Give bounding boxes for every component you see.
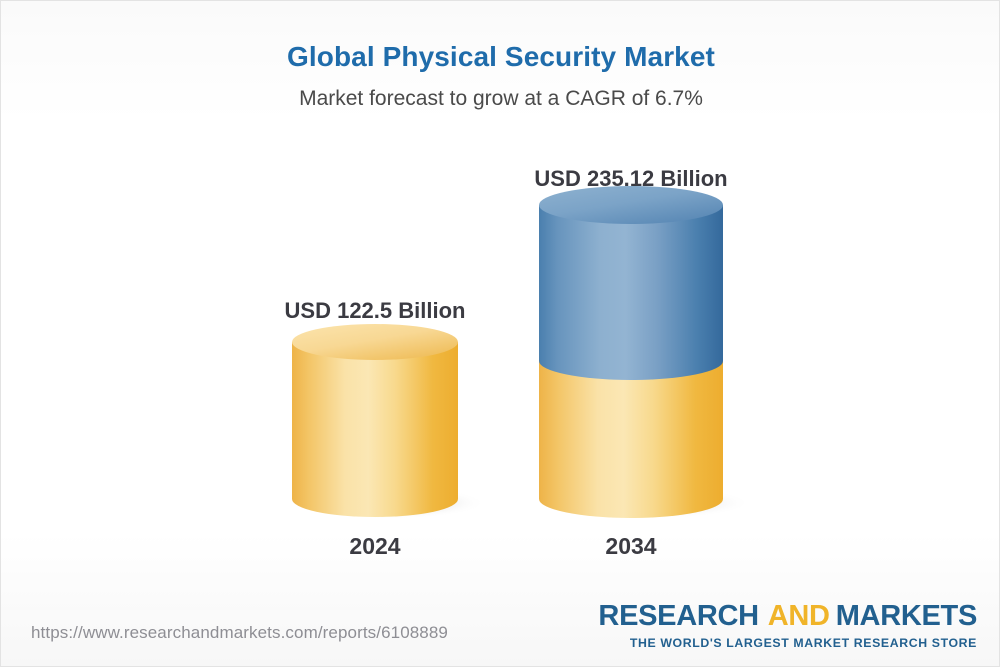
logo-wordmark: RESEARCHANDMARKETS [598,602,977,631]
logo-tagline: THE WORLD'S LARGEST MARKET RESEARCH STOR… [598,637,977,649]
cylinder-cap-2024 [292,324,458,360]
logo-word-research: RESEARCH [598,600,758,632]
cylinder-body-2024 [292,342,458,517]
report-url[interactable]: https://www.researchandmarkets.com/repor… [31,623,448,643]
bar-group-2024: USD 122.5 Billion [282,151,468,571]
infographic-card: Global Physical Security Market Market f… [0,0,1000,667]
bar-group-2034: USD 235.12 Billion [529,151,733,571]
bar-chart-plot-area: USD 122.5 Billion [1,1,1000,667]
cylinder-bar-2034 [529,151,733,571]
cylinder-cap-2034 [539,186,723,224]
category-label-2024: 2024 [282,533,468,560]
research-and-markets-logo[interactable]: RESEARCHANDMARKETS THE WORLD'S LARGEST M… [598,602,977,649]
category-label-2034: 2034 [529,533,733,560]
logo-word-markets: MARKETS [836,600,977,632]
cylinder-bar-2024 [282,151,468,571]
logo-word-and: AND [768,600,830,632]
cylinder-body-2034-blue [539,205,723,380]
